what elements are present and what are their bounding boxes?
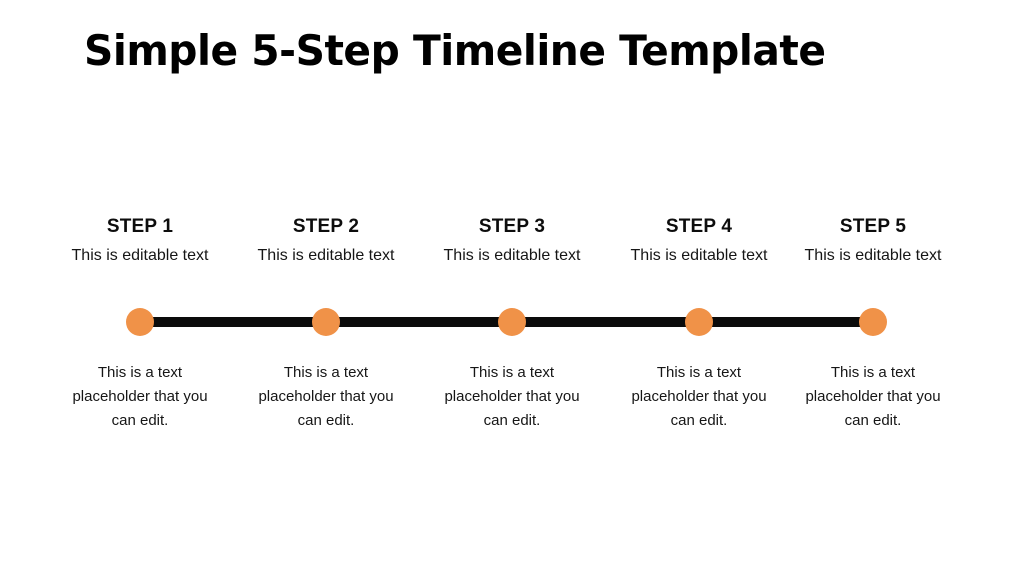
- step-1-subtitle: This is editable text: [65, 244, 215, 268]
- step-4-subtitle: This is editable text: [624, 244, 774, 268]
- slide-canvas: Simple 5-Step Timeline Template STEP 1 T…: [0, 0, 1024, 576]
- step-3-upper-text: STEP 3 This is editable text: [402, 216, 622, 268]
- step-2-subtitle: This is editable text: [251, 244, 401, 268]
- step-5-upper-text: STEP 5 This is editable text: [763, 216, 983, 268]
- step-2-heading: STEP 2: [216, 216, 436, 238]
- timeline-step-1[interactable]: STEP 1 This is editable text This is a t…: [30, 0, 250, 576]
- step-1-body-text: This is a text placeholder that you can …: [65, 361, 215, 433]
- step-3-subtitle: This is editable text: [437, 244, 587, 268]
- timeline-step-3[interactable]: STEP 3 This is editable text This is a t…: [402, 0, 622, 576]
- timeline-step-5[interactable]: STEP 5 This is editable text This is a t…: [763, 0, 983, 576]
- timeline-step-2[interactable]: STEP 2 This is editable text This is a t…: [216, 0, 436, 576]
- step-1-upper-text: STEP 1 This is editable text: [30, 216, 250, 268]
- step-5-subtitle: This is editable text: [798, 244, 948, 268]
- step-3-heading: STEP 3: [402, 216, 622, 238]
- step-3-body-text: This is a text placeholder that you can …: [437, 361, 587, 433]
- step-2-body-text: This is a text placeholder that you can …: [251, 361, 401, 433]
- step-4-heading: STEP 4: [589, 216, 809, 238]
- timeline-diagram: STEP 1 This is editable text This is a t…: [0, 0, 1024, 576]
- timeline-step-4[interactable]: STEP 4 This is editable text This is a t…: [589, 0, 809, 576]
- step-1-heading: STEP 1: [30, 216, 250, 238]
- step-4-upper-text: STEP 4 This is editable text: [589, 216, 809, 268]
- timeline-connector-bar: [140, 317, 874, 327]
- step-5-heading: STEP 5: [763, 216, 983, 238]
- step-2-upper-text: STEP 2 This is editable text: [216, 216, 436, 268]
- step-4-body-text: This is a text placeholder that you can …: [624, 361, 774, 433]
- step-5-body-text: This is a text placeholder that you can …: [798, 361, 948, 433]
